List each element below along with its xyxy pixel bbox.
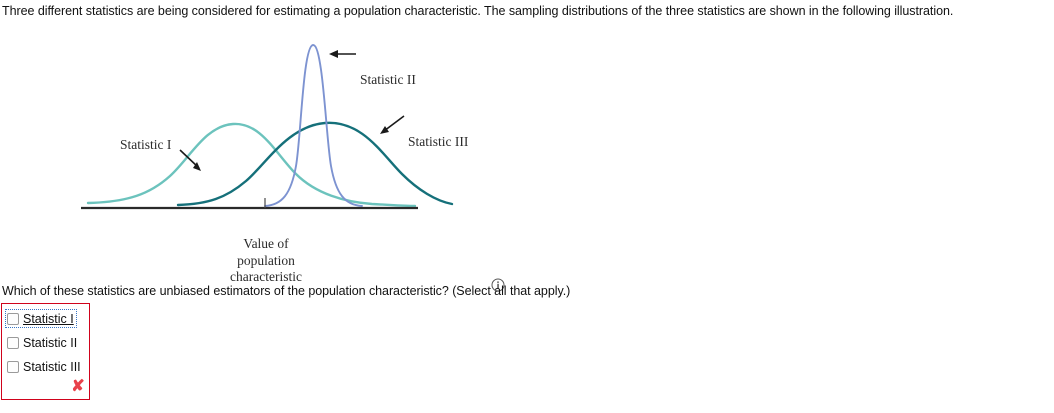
choice-label-statistic-3: Statistic III bbox=[23, 360, 81, 374]
stat3-label: Statistic III bbox=[408, 134, 468, 150]
checkbox-statistic-2[interactable] bbox=[7, 337, 19, 349]
x-axis-caption: Value of population characteristic bbox=[216, 236, 316, 286]
stat2-arrow bbox=[329, 50, 356, 58]
checkbox-statistic-1[interactable] bbox=[7, 313, 19, 325]
choice-row-statistic-3[interactable]: Statistic III bbox=[5, 357, 84, 376]
choice-row-statistic-1[interactable]: Statistic I bbox=[5, 309, 77, 328]
answer-choices-group: Statistic I Statistic II Statistic III ✘ bbox=[1, 303, 90, 400]
choice-label-statistic-2: Statistic II bbox=[23, 336, 77, 350]
intro-paragraph: Three different statistics are being con… bbox=[2, 3, 1052, 19]
axis-caption-line-1: Value of bbox=[216, 236, 316, 253]
incorrect-answer-mark: ✘ bbox=[70, 378, 86, 396]
stat2-label: Statistic II bbox=[360, 72, 416, 88]
stat3-arrow bbox=[380, 116, 404, 134]
sampling-distributions-figure: Statistic I Statistic II Statistic III V… bbox=[0, 26, 540, 276]
choice-row-statistic-2[interactable]: Statistic II bbox=[5, 333, 80, 352]
checkbox-statistic-3[interactable] bbox=[7, 361, 19, 373]
choice-label-statistic-1: Statistic I bbox=[23, 312, 74, 326]
stat1-label: Statistic I bbox=[120, 137, 171, 153]
question-prompt: Which of these statistics are unbiased e… bbox=[2, 283, 570, 299]
axis-caption-line-2: population bbox=[216, 253, 316, 270]
